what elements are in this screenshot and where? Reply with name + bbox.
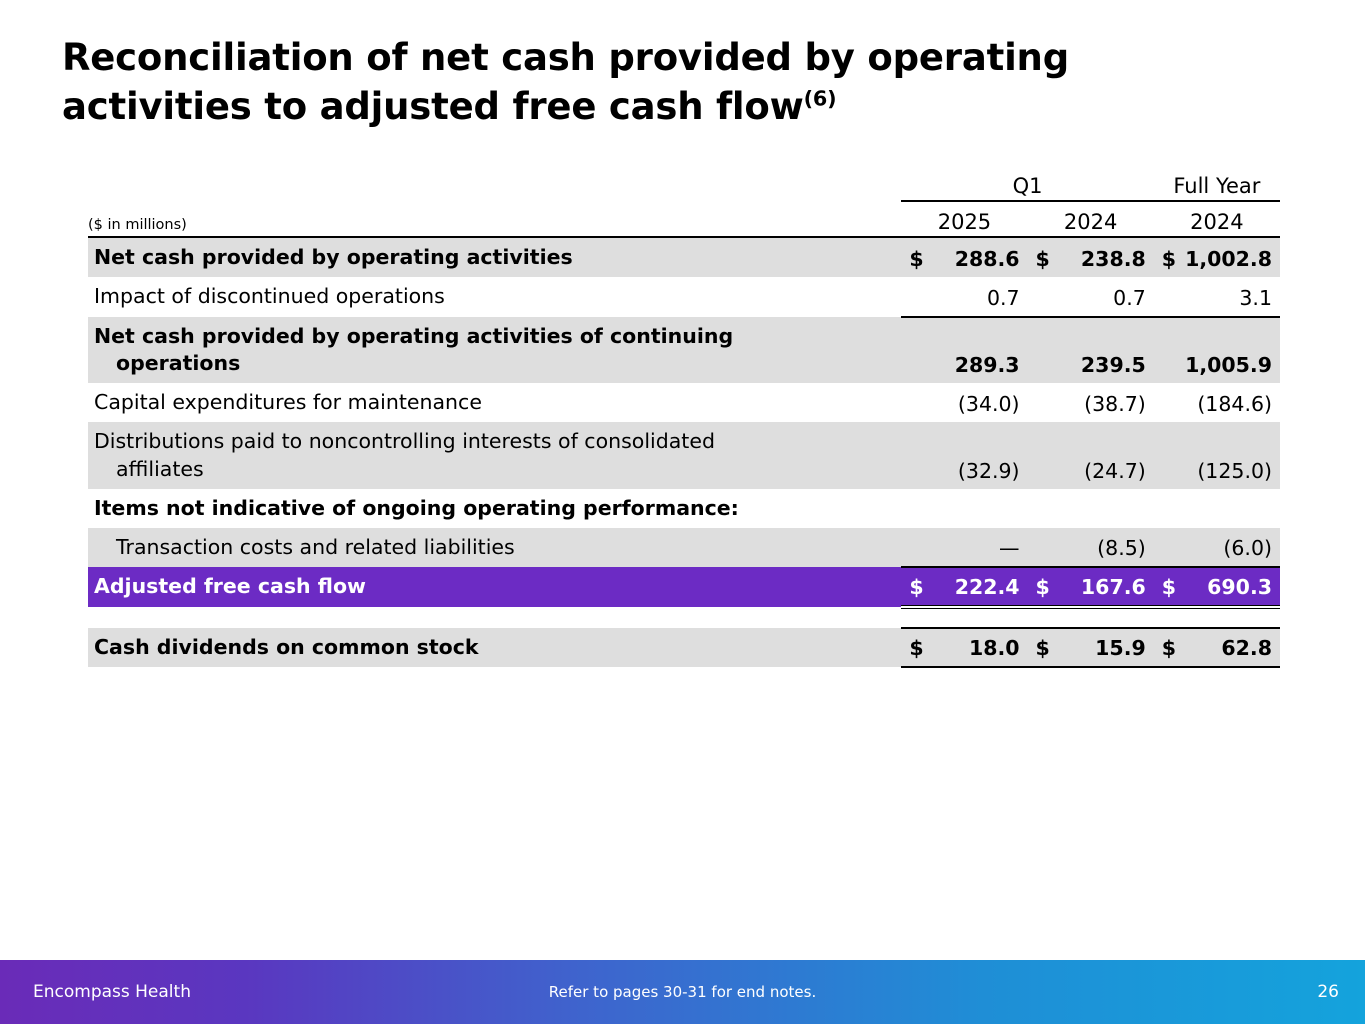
value-text: 1,002.8 <box>1185 247 1272 271</box>
value-text: (184.6) <box>1197 392 1272 416</box>
currency-symbol: $ <box>1032 575 1050 599</box>
row-value-fy-2024: 3.1 <box>1154 277 1280 316</box>
currency-symbol: $ <box>1032 636 1050 660</box>
row-value-q1-2025 <box>901 489 1027 528</box>
value-text: 0.7 <box>1113 286 1146 310</box>
table-row: Net cash provided by operating activitie… <box>88 317 1280 384</box>
value-text: (8.5) <box>1097 536 1146 560</box>
table-row-total: Adjusted free cash flow $222.4 $167.6 $6… <box>88 567 1280 606</box>
value-text: 289.3 <box>955 353 1020 377</box>
row-value-q1-2025: (34.0) <box>901 383 1027 422</box>
value-text: 288.6 <box>955 247 1020 271</box>
footer-page-number: 26 <box>1317 982 1339 1002</box>
row-label: Distributions paid to noncontrolling int… <box>88 422 901 489</box>
spacer-cell <box>88 607 901 628</box>
value-text: 1,005.9 <box>1185 353 1272 377</box>
units-label: ($ in millions) <box>88 201 901 237</box>
table-row: Cash dividends on common stock $18.0 $15… <box>88 628 1280 667</box>
row-label: Adjusted free cash flow <box>88 567 901 606</box>
row-label-line1: Net cash provided by operating activitie… <box>94 323 897 350</box>
row-value-q1-2024: $15.9 <box>1028 628 1154 667</box>
row-value-q1-2024: 239.5 <box>1028 317 1154 384</box>
table-body: Net cash provided by operating activitie… <box>88 237 1280 667</box>
row-value-q1-2025: $222.4 <box>901 567 1027 606</box>
row-value-fy-2024: (6.0) <box>1154 528 1280 567</box>
value-text: — <box>999 536 1020 560</box>
value-text: (34.0) <box>958 392 1020 416</box>
currency-symbol: $ <box>1158 575 1176 599</box>
row-value-q1-2025: $18.0 <box>901 628 1027 667</box>
table-header: Q1 Full Year ($ in millions) 2025 2024 2… <box>88 166 1280 237</box>
reconciliation-table-container: Q1 Full Year ($ in millions) 2025 2024 2… <box>88 166 1280 668</box>
spacer-cell <box>901 607 1027 628</box>
spacer-cell <box>1028 607 1154 628</box>
page-title-line1: Reconciliation of net cash provided by o… <box>62 36 1069 79</box>
row-value-q1-2024: (24.7) <box>1028 422 1154 489</box>
row-label-line2: operations <box>94 350 897 377</box>
row-label: Items not indicative of ongoing operatin… <box>88 489 901 528</box>
row-label: Net cash provided by operating activitie… <box>88 237 901 277</box>
spacer-cell <box>1154 607 1280 628</box>
value-text: (24.7) <box>1084 459 1146 483</box>
currency-symbol: $ <box>905 575 923 599</box>
row-value-q1-2024 <box>1028 489 1154 528</box>
currency-symbol: $ <box>1032 247 1050 271</box>
row-label-line1: Distributions paid to noncontrolling int… <box>94 428 897 455</box>
currency-symbol: $ <box>905 247 923 271</box>
row-label: Transaction costs and related liabilitie… <box>88 528 901 567</box>
row-label: Cash dividends on common stock <box>88 628 901 667</box>
value-text: 3.1 <box>1239 286 1272 310</box>
currency-symbol: $ <box>1158 636 1176 660</box>
reconciliation-table: Q1 Full Year ($ in millions) 2025 2024 2… <box>88 166 1280 668</box>
value-text: 238.8 <box>1081 247 1146 271</box>
row-value-fy-2024: (125.0) <box>1154 422 1280 489</box>
table-row: Items not indicative of ongoing operatin… <box>88 489 1280 528</box>
row-value-q1-2025: 289.3 <box>901 317 1027 384</box>
table-year-header-row: ($ in millions) 2025 2024 2024 <box>88 201 1280 237</box>
value-text: 18.0 <box>969 636 1020 660</box>
value-text: (125.0) <box>1197 459 1272 483</box>
row-value-q1-2024: $238.8 <box>1028 237 1154 277</box>
page-title-footnote-marker: (6) <box>804 87 837 111</box>
table-row: Net cash provided by operating activitie… <box>88 237 1280 277</box>
page-title-line2: activities to adjusted free cash flow <box>62 85 804 128</box>
value-text: (6.0) <box>1223 536 1272 560</box>
page-title: Reconciliation of net cash provided by o… <box>62 34 1182 132</box>
row-label-line2: affiliates <box>94 456 897 483</box>
row-value-q1-2024: (8.5) <box>1028 528 1154 567</box>
row-value-fy-2024: $1,002.8 <box>1154 237 1280 277</box>
value-text: 62.8 <box>1221 636 1272 660</box>
slide-footer: Encompass Health Refer to pages 30-31 fo… <box>0 960 1365 1024</box>
table-row: Transaction costs and related liabilitie… <box>88 528 1280 567</box>
column-header-fy-2024: 2024 <box>1154 201 1280 237</box>
currency-symbol: $ <box>1158 247 1176 271</box>
row-value-q1-2024: $167.6 <box>1028 567 1154 606</box>
row-label-text: Transaction costs and related liabilitie… <box>94 534 897 561</box>
row-value-q1-2024: 0.7 <box>1028 277 1154 316</box>
column-group-full-year: Full Year <box>1154 166 1280 201</box>
table-row: Impact of discontinued operations 0.7 0.… <box>88 277 1280 316</box>
value-text: 0.7 <box>987 286 1020 310</box>
value-text: 222.4 <box>955 575 1020 599</box>
row-label: Impact of discontinued operations <box>88 277 901 316</box>
row-value-q1-2025: 0.7 <box>901 277 1027 316</box>
value-text: 239.5 <box>1081 353 1146 377</box>
value-text: 15.9 <box>1095 636 1146 660</box>
column-header-q1-2025: 2025 <box>901 201 1027 237</box>
group-header-spacer <box>88 166 901 201</box>
row-value-q1-2024: (38.7) <box>1028 383 1154 422</box>
currency-symbol: $ <box>905 636 923 660</box>
row-value-q1-2025: — <box>901 528 1027 567</box>
row-label: Net cash provided by operating activitie… <box>88 317 901 384</box>
row-value-fy-2024: (184.6) <box>1154 383 1280 422</box>
row-value-q1-2025: (32.9) <box>901 422 1027 489</box>
table-row: Distributions paid to noncontrolling int… <box>88 422 1280 489</box>
value-text: (38.7) <box>1084 392 1146 416</box>
column-group-q1: Q1 <box>901 166 1153 201</box>
value-text: 690.3 <box>1207 575 1272 599</box>
row-label: Capital expenditures for maintenance <box>88 383 901 422</box>
table-spacer-row <box>88 607 1280 628</box>
column-header-q1-2024: 2024 <box>1028 201 1154 237</box>
table-group-header-row: Q1 Full Year <box>88 166 1280 201</box>
row-value-fy-2024: 1,005.9 <box>1154 317 1280 384</box>
value-text: 167.6 <box>1081 575 1146 599</box>
row-value-fy-2024: $690.3 <box>1154 567 1280 606</box>
row-value-q1-2025: $288.6 <box>901 237 1027 277</box>
table-row: Capital expenditures for maintenance (34… <box>88 383 1280 422</box>
value-text: (32.9) <box>958 459 1020 483</box>
row-value-fy-2024: $62.8 <box>1154 628 1280 667</box>
row-value-fy-2024 <box>1154 489 1280 528</box>
footer-note: Refer to pages 30-31 for end notes. <box>0 983 1365 1001</box>
